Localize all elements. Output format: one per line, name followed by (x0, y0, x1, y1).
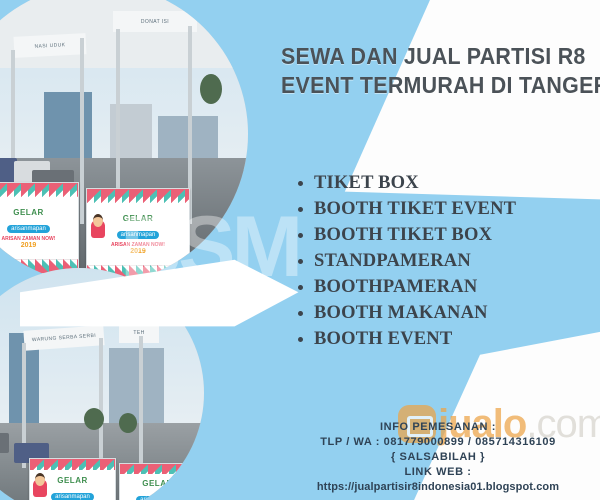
gelar-brand: arisanmapan (136, 496, 179, 500)
gelar-booth-panel: GELAR arisanmapan ARISAN ZAMAN NOW! (29, 458, 116, 500)
list-item: BOOTHPAMERAN (296, 274, 516, 300)
list-item: BOOTH MAKANAN (296, 300, 516, 326)
gelar-title: GELAR (35, 476, 110, 485)
list-item: TIKET BOX (296, 170, 516, 196)
bunting-decoration (0, 183, 78, 199)
tree-shape (84, 408, 104, 430)
contact-info-label: INFO PEMESANAN : (276, 420, 600, 435)
gelar-booth-panel: GELAR arisanmapan ARISAN ZAMAN NOW! 2019 (0, 182, 79, 274)
poster-canvas: NASI UDUK DONAT ISI GELAR arisanmapan AR… (0, 0, 600, 500)
contact-phone: TLP / WA : 081779000899 / 085714316109 (276, 435, 600, 450)
booth-post (139, 336, 143, 469)
gelar-artwork: GELAR arisanmapan ARISAN ZAMAN NOW! 2019 (0, 208, 72, 249)
list-item: BOOTH TIKET EVENT (296, 196, 516, 222)
photo-top-scene: NASI UDUK DONAT ISI GELAR arisanmapan AR… (0, 0, 248, 284)
bunting-decoration (30, 459, 115, 470)
gelar-title: GELAR (93, 214, 183, 223)
tree-shape (119, 413, 137, 433)
booth-post (99, 338, 103, 468)
list-item: BOOTH EVENT (296, 326, 516, 352)
vehicle-car (0, 433, 9, 453)
gelar-year: 2019 (93, 248, 183, 255)
gelar-artwork: GELAR arisanmapan ARISAN ZAMAN NOW! (35, 476, 110, 500)
list-item: BOOTH TIKET BOX (296, 222, 516, 248)
contact-block: INFO PEMESANAN : TLP / WA : 081779000899… (276, 420, 600, 495)
bunting-decoration (87, 189, 189, 205)
gelar-title: GELAR (125, 479, 191, 488)
photo-top-booths: NASI UDUK DONAT ISI GELAR arisanmapan AR… (0, 0, 248, 284)
gelar-year: 2019 (0, 242, 72, 249)
gelar-brand: arisanmapan (51, 493, 94, 500)
service-list: TIKET BOX BOOTH TIKET EVENT BOOTH TIKET … (296, 170, 516, 352)
booth-sign-nasi-uduk: NASI UDUK (13, 33, 86, 58)
list-item: STANDPAMERAN (296, 248, 516, 274)
gelar-brand: arisanmapan (117, 231, 160, 239)
contact-website-url: https://jualpartisir8indonesia01.blogspo… (276, 480, 600, 495)
booth-post (80, 38, 84, 224)
tree-shape (200, 74, 222, 104)
gelar-booth-panel: GELAR arisanmapan ARISAN ZAMAN NOW! 2019 (86, 188, 190, 280)
headline-line-1: SEWA DAN JUAL PARTISI R8 (281, 42, 575, 71)
page-title: SEWA DAN JUAL PARTISI R8 EVENT TERMURAH … (281, 42, 575, 100)
headline-line-2: EVENT TERMURAH DI TANGERANG (281, 71, 575, 100)
gelar-artwork: GELAR arisanmapan (125, 479, 191, 500)
gelar-brand: arisanmapan (7, 225, 50, 233)
gelar-artwork: GELAR arisanmapan ARISAN ZAMAN NOW! 2019 (93, 214, 183, 255)
contact-person: { SALSABILAH } (276, 450, 600, 465)
booth-sign-donat-isi: DONAT ISI (113, 11, 197, 32)
contact-link-label: LINK WEB : (276, 465, 600, 480)
building-shape (109, 348, 164, 423)
bunting-decoration (120, 464, 195, 474)
gelar-booth-panel: GELAR arisanmapan (119, 463, 196, 500)
gelar-title: GELAR (0, 208, 72, 217)
